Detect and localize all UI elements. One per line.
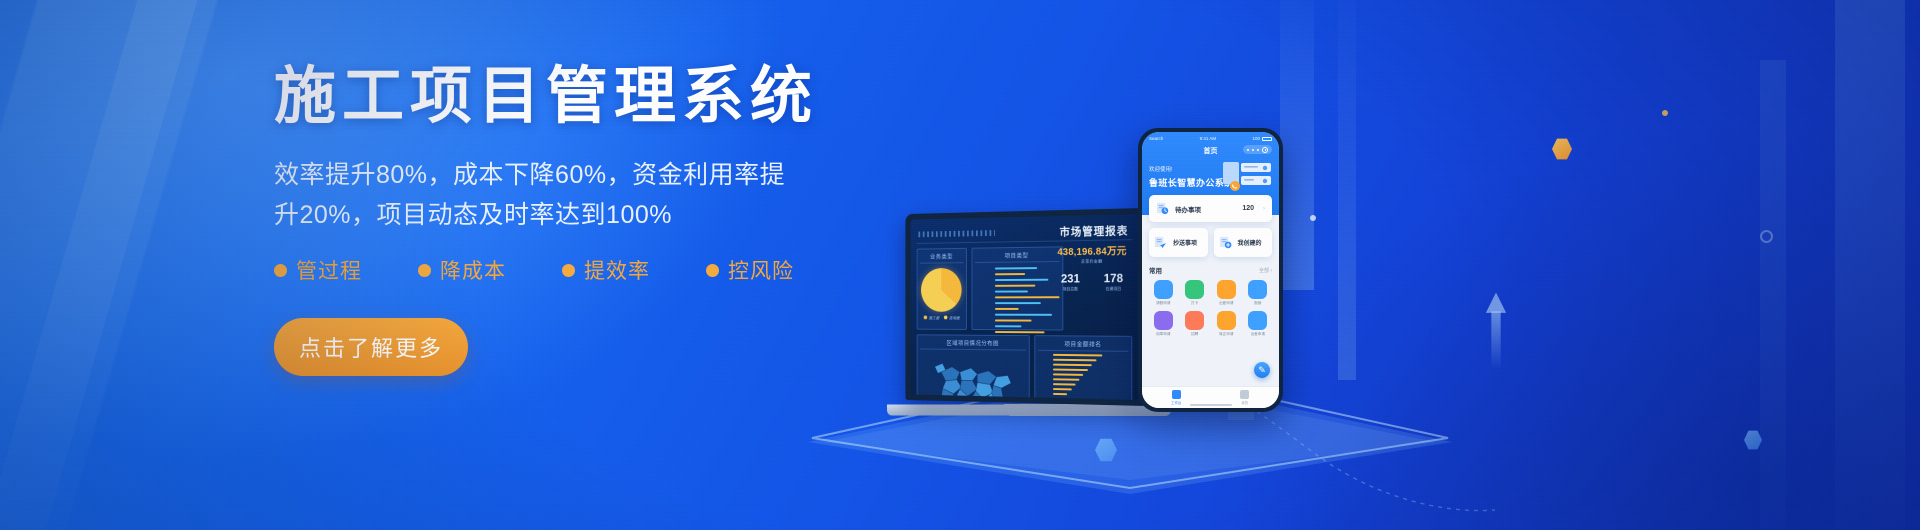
banner-subtitle: 效率提升80%，成本下降60%，资金利用率提升20%，项目动态及时率达到100% bbox=[274, 155, 794, 235]
vertical-band-decoration bbox=[1760, 60, 1786, 530]
person-icon bbox=[1240, 390, 1249, 399]
todo-card[interactable]: 待办事项 120 › bbox=[1149, 195, 1272, 222]
status-bar: Search 9:41 AM 100 bbox=[1149, 136, 1272, 141]
app-icon bbox=[1185, 280, 1204, 299]
app-label: 报销 bbox=[1244, 301, 1273, 306]
feature-item-control-risk: 控风险 bbox=[706, 255, 794, 285]
feature-label: 降成本 bbox=[440, 255, 506, 285]
laptop-lid: 市场管理报表 业务类型 施工类 咨询类 bbox=[905, 208, 1145, 406]
status-carrier: Search bbox=[1149, 136, 1163, 141]
pie-chart bbox=[921, 268, 962, 312]
app-label: 打卡 bbox=[1181, 301, 1210, 306]
bullet-icon bbox=[562, 264, 575, 277]
bar-row bbox=[975, 300, 1059, 305]
dashboard-kpis: 438,196.84万元 总签约金额 231 项目总数 178 在建项目 bbox=[1052, 242, 1132, 292]
frequent-section-header: 常用 全部 › bbox=[1149, 265, 1272, 275]
bullet-icon bbox=[274, 264, 287, 277]
kpi-label: 项目总数 bbox=[1052, 286, 1089, 292]
feature-item-reduce-cost: 降成本 bbox=[418, 255, 506, 285]
ring-decoration bbox=[1760, 230, 1773, 243]
cc-items-label: 抄送事项 bbox=[1173, 238, 1203, 247]
phone-navbar: 首页 bbox=[1149, 146, 1272, 156]
app-tile-travel[interactable]: 出差申请 bbox=[1212, 280, 1241, 306]
map-panel: 区域项目情况分布图 bbox=[917, 334, 1030, 400]
dashboard-title: 市场管理报表 bbox=[1060, 222, 1129, 239]
bar-row bbox=[975, 271, 1059, 277]
app-label: 用章申请 bbox=[1149, 332, 1178, 337]
dashboard: 市场管理报表 业务类型 施工类 咨询类 bbox=[911, 214, 1140, 400]
app-label: 转正申请 bbox=[1212, 332, 1241, 337]
bar-row bbox=[975, 265, 1059, 271]
promo-banner: 施工项目管理系统 效率提升80%，成本下降60%，资金利用率提升20%，项目动态… bbox=[0, 0, 1920, 530]
home-indicator bbox=[1190, 404, 1232, 406]
feature-item-improve-efficiency: 提效率 bbox=[562, 255, 650, 285]
bar-row bbox=[975, 323, 1059, 328]
app-icon bbox=[1154, 311, 1173, 330]
feature-label: 提效率 bbox=[584, 255, 650, 285]
more-dots-icon[interactable] bbox=[1252, 149, 1254, 151]
add-circle-icon bbox=[1219, 236, 1232, 249]
bar-row bbox=[975, 306, 1059, 311]
device-mockups: 市场管理报表 业务类型 施工类 咨询类 bbox=[960, 96, 1560, 496]
compose-fab-button[interactable]: ✎ bbox=[1254, 362, 1270, 378]
chevron-right-icon: › bbox=[1263, 206, 1265, 212]
bullet-icon bbox=[418, 264, 431, 277]
app-icon bbox=[1217, 311, 1236, 330]
kpi-pair: 231 项目总数 178 在建项目 bbox=[1052, 271, 1132, 292]
my-created-label: 我创建的 bbox=[1238, 238, 1268, 247]
app-tile-leave[interactable]: 请假申请 bbox=[1149, 280, 1178, 306]
bar-row bbox=[975, 283, 1059, 288]
map-title: 区域项目情况分布图 bbox=[920, 338, 1026, 351]
more-dots-icon[interactable] bbox=[1247, 149, 1249, 151]
close-circle-icon[interactable] bbox=[1262, 147, 1268, 153]
vertical-band-decoration bbox=[1835, 0, 1905, 530]
pie-chart-legend: 施工类 咨询类 bbox=[920, 315, 963, 321]
app-tile-regularization[interactable]: 转正申请 bbox=[1212, 311, 1241, 337]
feature-label: 控风险 bbox=[728, 255, 794, 285]
pie-chart-panel: 业务类型 施工类 咨询类 bbox=[917, 248, 967, 330]
rank-panel: 项目金额排名 bbox=[1035, 335, 1133, 400]
laptop-screen: 市场管理报表 业务类型 施工类 咨询类 bbox=[911, 214, 1140, 400]
kpi-project-total: 231 项目总数 bbox=[1052, 272, 1089, 293]
app-grid: 请假申请 打卡 出差申请 报销 bbox=[1149, 280, 1272, 337]
app-icon bbox=[1248, 311, 1267, 330]
bar-row bbox=[975, 277, 1059, 282]
todo-count: 120 bbox=[1242, 205, 1254, 212]
bar-row bbox=[975, 318, 1059, 323]
phone-tabbar: 工作台 我的 bbox=[1142, 386, 1279, 408]
app-tile-travel-2[interactable]: 出差申请 bbox=[1244, 311, 1273, 337]
legend-item: 咨询类 bbox=[944, 316, 960, 322]
app-tile-seal[interactable]: 用章申请 bbox=[1149, 311, 1178, 337]
dot-decoration bbox=[1662, 110, 1668, 116]
frequent-section-title: 常用 bbox=[1149, 265, 1162, 275]
status-battery-percent: 100 bbox=[1252, 136, 1260, 141]
send-plane-icon bbox=[1154, 236, 1167, 249]
more-dots-icon[interactable] bbox=[1257, 149, 1259, 151]
rank-chart bbox=[1038, 353, 1128, 400]
kpi-label: 在建项目 bbox=[1095, 286, 1133, 292]
kpi-total-amount-caption: 总签约金额 bbox=[1052, 258, 1132, 265]
china-map-svg bbox=[920, 351, 1026, 400]
legend-swatch bbox=[944, 316, 948, 320]
cc-items-card[interactable]: 抄送事项 bbox=[1149, 228, 1208, 257]
phone-nav-title: 首页 bbox=[1204, 146, 1218, 156]
bar-row bbox=[975, 312, 1059, 317]
phone-content: 待办事项 120 › bbox=[1142, 195, 1279, 341]
bar-row bbox=[975, 294, 1059, 299]
app-label: 出差申请 bbox=[1212, 301, 1241, 306]
app-tile-recruit[interactable]: 招聘 bbox=[1181, 311, 1210, 337]
app-label: 请假申请 bbox=[1149, 301, 1178, 306]
mini-program-controls[interactable] bbox=[1243, 145, 1272, 154]
page-title: 施工项目管理系统 bbox=[274, 62, 894, 131]
frequent-section-more[interactable]: 全部 › bbox=[1259, 267, 1272, 274]
bullet-icon bbox=[706, 264, 719, 277]
learn-more-button[interactable]: 点击了解更多 bbox=[274, 318, 468, 376]
rank-title: 项目金额排名 bbox=[1038, 339, 1128, 352]
office-illustration bbox=[1221, 158, 1273, 192]
feature-list: 管过程 降成本 提效率 控风险 bbox=[274, 255, 894, 285]
todo-label: 待办事项 bbox=[1175, 204, 1236, 214]
bar-row bbox=[975, 288, 1059, 293]
legend-label: 施工类 bbox=[929, 316, 940, 321]
quick-cards: 抄送事项 bbox=[1149, 228, 1272, 257]
bar-chart bbox=[975, 264, 1059, 334]
my-created-card[interactable]: 我创建的 bbox=[1214, 228, 1273, 257]
light-ribbon-decoration-secondary bbox=[0, 0, 220, 530]
feature-item-manage-process: 管过程 bbox=[274, 255, 362, 285]
hexagon-icon bbox=[1744, 430, 1762, 450]
legend-label: 咨询类 bbox=[949, 316, 960, 321]
bar-chart-title: 项目类型 bbox=[975, 250, 1059, 263]
app-icon bbox=[1154, 280, 1173, 299]
bar-chart-panel: 项目类型 bbox=[971, 246, 1063, 330]
kpi-value: 178 bbox=[1095, 271, 1133, 285]
phone-screen: Search 9:41 AM 100 首页 bbox=[1142, 132, 1279, 408]
bar-row bbox=[975, 329, 1059, 334]
dashboard-header: 市场管理报表 bbox=[917, 220, 1133, 244]
kpi-active-projects: 178 在建项目 bbox=[1095, 271, 1133, 292]
app-icon bbox=[1217, 280, 1236, 299]
laptop-mockup: 市场管理报表 业务类型 施工类 咨询类 bbox=[885, 208, 1145, 438]
battery-icon bbox=[1262, 137, 1272, 141]
laptop-base bbox=[887, 404, 1171, 416]
china-map-chart bbox=[920, 351, 1026, 400]
kpi-total-amount: 438,196.84万元 bbox=[1052, 242, 1132, 258]
feature-label: 管过程 bbox=[296, 255, 362, 285]
pie-chart-title: 业务类型 bbox=[920, 252, 963, 264]
phone-mockup: Search 9:41 AM 100 首页 bbox=[1138, 128, 1283, 412]
legend-item: 施工类 bbox=[923, 315, 939, 321]
legend-swatch bbox=[923, 315, 926, 319]
app-tile-reimburse[interactable]: 报销 bbox=[1244, 280, 1273, 306]
app-icon bbox=[1248, 280, 1267, 299]
app-label: 出差申请 bbox=[1244, 332, 1273, 337]
dashboard-lower-row: 区域项目情况分布图 bbox=[917, 334, 1133, 400]
app-tile-clockin[interactable]: 打卡 bbox=[1181, 280, 1210, 306]
banner-copy: 施工项目管理系统 效率提升80%，成本下降60%，资金利用率提升20%，项目动态… bbox=[274, 62, 894, 376]
app-icon bbox=[1185, 311, 1204, 330]
app-label: 招聘 bbox=[1181, 332, 1210, 337]
status-time: 9:41 AM bbox=[1200, 136, 1217, 141]
todo-clock-icon bbox=[1156, 202, 1169, 215]
light-ribbon-decoration bbox=[0, 0, 235, 530]
workbench-icon bbox=[1172, 390, 1181, 399]
kpi-value: 231 bbox=[1052, 272, 1089, 286]
